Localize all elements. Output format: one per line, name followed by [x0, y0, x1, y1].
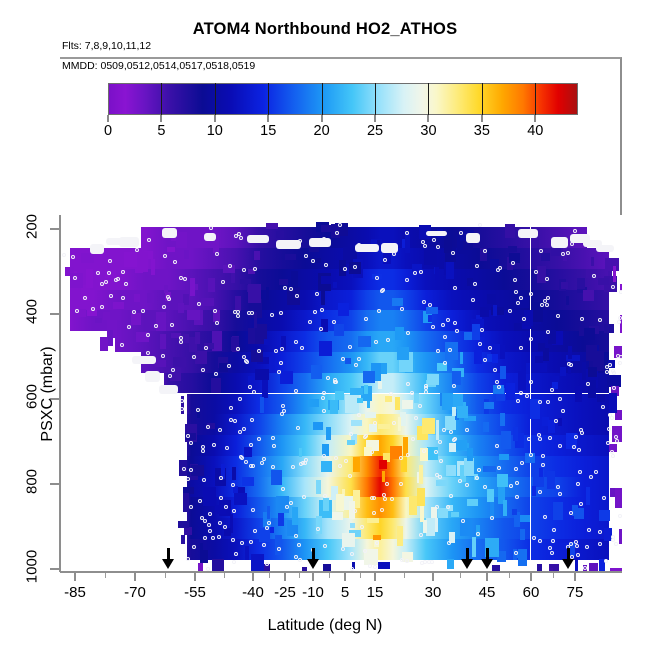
- measurement-marker: [569, 511, 573, 515]
- measurement-marker: [419, 270, 423, 274]
- x-axis-minor-tick: [360, 573, 361, 578]
- heatmap-cell: [282, 310, 305, 331]
- measurement-marker: [480, 328, 484, 332]
- measurement-marker: [250, 418, 254, 422]
- measurement-marker: [221, 280, 225, 284]
- heatmap-cell: [417, 488, 425, 506]
- heatmap-cell: [138, 252, 148, 272]
- measurement-marker: [294, 534, 298, 538]
- heatmap-cell: [191, 394, 214, 415]
- heatmap-cell: [398, 417, 402, 432]
- heatmap-cell: [351, 290, 367, 311]
- measurement-marker: [271, 465, 275, 469]
- heatmap-cell: [619, 529, 622, 544]
- heatmap-cell: [173, 357, 186, 366]
- measurement-marker: [545, 303, 549, 307]
- heatmap-cell: [240, 279, 251, 284]
- heatmap-cell: [167, 247, 175, 252]
- flights-annotation: Flts: 7,8,9,10,11,12: [62, 40, 151, 52]
- measurement-marker: [514, 551, 518, 555]
- measurement-marker: [410, 391, 414, 395]
- measurement-marker: [303, 461, 307, 465]
- heatmap-cell: [504, 331, 530, 352]
- y-axis-tick-label: 800: [24, 464, 41, 500]
- measurement-marker: [364, 317, 368, 321]
- heatmap-cell: [586, 345, 598, 360]
- measurement-marker: [598, 318, 602, 322]
- heatmap-cell: [588, 367, 597, 377]
- measurement-marker: [322, 409, 326, 413]
- heatmap-cell: [276, 231, 284, 238]
- heatmap-cell: [547, 471, 555, 490]
- heatmap-cell: [520, 529, 525, 541]
- heatmap-cell: [575, 386, 581, 402]
- heatmap-cell: [321, 276, 330, 284]
- heatmap-cell: [428, 315, 432, 322]
- colorbar-divider: [482, 83, 483, 115]
- measurement-marker: [219, 476, 223, 480]
- heatmap-cell: [373, 535, 381, 541]
- heatmap-cell: [420, 505, 425, 522]
- measurement-marker: [124, 282, 128, 286]
- heatmap-cell: [319, 341, 332, 356]
- measurement-marker: [120, 343, 124, 347]
- measurement-marker: [109, 294, 113, 298]
- heatmap-cell: [586, 269, 590, 278]
- heatmap-cell: [212, 559, 224, 572]
- measurement-marker: [304, 254, 308, 258]
- colorbar-tick-label: 10: [207, 123, 223, 139]
- measurement-marker: [509, 484, 513, 488]
- heatmap-cell: [501, 431, 512, 449]
- measurement-marker: [240, 456, 244, 460]
- measurement-marker: [354, 363, 358, 367]
- heatmap-cell: [321, 225, 332, 232]
- heatmap-cell: [183, 334, 188, 343]
- measurement-marker: [341, 357, 345, 361]
- measurement-marker: [271, 436, 275, 440]
- heatmap-cell: [568, 346, 572, 358]
- heatmap-cell: [201, 298, 214, 306]
- colorbar-gradient: [108, 83, 578, 115]
- heatmap-cell: [178, 303, 184, 313]
- measurement-marker: [405, 278, 409, 282]
- heatmap-cell: [447, 559, 454, 570]
- heatmap-cell: [452, 407, 457, 416]
- heatmap-cell: [584, 328, 595, 340]
- heatmap-cell: [583, 414, 609, 435]
- measurement-marker: [476, 532, 480, 536]
- measurement-marker: [594, 470, 598, 474]
- measurement-marker: [294, 555, 298, 559]
- heatmap-cell: [214, 414, 237, 435]
- measurement-marker: [338, 223, 342, 227]
- heatmap-cell: [358, 336, 371, 347]
- heatmap-cell: [367, 518, 379, 524]
- measurement-marker: [538, 437, 542, 441]
- measurement-marker: [616, 354, 620, 358]
- measurement-marker: [294, 340, 298, 344]
- heatmap-cell: [259, 290, 282, 311]
- measurement-marker: [334, 456, 338, 460]
- heatmap-cell: [380, 310, 393, 331]
- measurement-marker: [215, 252, 219, 256]
- heatmap-cell: [367, 310, 380, 331]
- data-gap-patch: [466, 233, 481, 242]
- heatmap-cell: [164, 285, 168, 293]
- measurement-marker: [294, 389, 298, 393]
- measurement-marker: [601, 405, 605, 409]
- heatmap-cell: [299, 448, 303, 457]
- x-axis-minor-tick: [105, 573, 106, 578]
- heatmap-cell: [350, 523, 356, 528]
- x-axis-tick: [486, 573, 488, 581]
- measurement-marker: [611, 369, 615, 373]
- heatmap-cell: [270, 527, 274, 533]
- measurement-marker: [319, 327, 323, 331]
- x-axis-tick-label: 75: [567, 584, 584, 601]
- data-gap-patch: [162, 228, 177, 237]
- measurement-marker: [617, 320, 621, 324]
- x-axis-tick: [194, 573, 196, 581]
- heatmap-cell: [336, 494, 344, 511]
- measurement-marker: [244, 460, 248, 464]
- colorbar-tick: [321, 115, 323, 122]
- measurement-marker: [607, 427, 611, 431]
- heatmap-cell: [402, 400, 413, 409]
- x-axis-tick-label: 60: [523, 584, 540, 601]
- heatmap-cell: [351, 420, 361, 426]
- heatmap-cell: [342, 533, 355, 547]
- measurement-marker: [62, 253, 66, 257]
- heatmap-cell: [599, 510, 610, 521]
- measurement-marker: [406, 453, 410, 457]
- x-axis-tick: [312, 573, 314, 581]
- heatmap-cell: [326, 427, 332, 440]
- colorbar-tick: [481, 115, 483, 122]
- colorbar-tick-label: 40: [527, 123, 543, 139]
- measurement-marker: [548, 436, 552, 440]
- measurement-marker: [483, 358, 487, 362]
- heatmap-cell: [393, 497, 406, 518]
- heatmap-cell: [248, 284, 261, 302]
- measurement-marker: [91, 307, 95, 311]
- measurement-marker: [353, 265, 357, 269]
- measurement-marker: [435, 505, 439, 509]
- heatmap-cell: [124, 252, 137, 267]
- y-axis-tick-label: 200: [24, 209, 41, 245]
- heatmap-cell: [267, 506, 270, 519]
- heatmap-cell: [147, 293, 154, 303]
- data-gap-patch: [309, 238, 331, 246]
- heatmap-cell: [255, 369, 268, 380]
- measurement-marker: [580, 317, 584, 321]
- x-axis-tick-label: -40: [242, 584, 264, 601]
- measurement-marker: [289, 501, 293, 505]
- measurement-marker: [455, 329, 459, 333]
- heatmap-cell: [214, 539, 237, 560]
- heatmap-cell: [520, 515, 530, 523]
- x-axis-minor-tick: [404, 573, 405, 578]
- heatmap-cell: [566, 296, 569, 305]
- colorbar-divider: [375, 83, 376, 115]
- measurement-marker: [289, 287, 293, 291]
- measurement-marker: [213, 309, 217, 313]
- measurement-marker: [201, 445, 205, 449]
- y-axis-tick-label: 400: [24, 294, 41, 330]
- x-axis-tick: [134, 573, 136, 581]
- heatmap-cell: [264, 339, 269, 345]
- measurement-marker: [232, 560, 236, 564]
- measurement-marker: [574, 540, 578, 544]
- latitude-arrow-marker: [307, 548, 319, 570]
- measurement-marker: [573, 229, 577, 233]
- heatmap-cell: [414, 393, 419, 403]
- measurement-marker: [516, 399, 520, 403]
- heatmap-cell: [604, 324, 614, 334]
- heatmap-cell: [113, 302, 124, 309]
- x-axis-tick-label: -25: [274, 584, 296, 601]
- heatmap-cell: [575, 558, 579, 572]
- heatmap-cell: [232, 467, 236, 480]
- measurement-marker: [443, 335, 447, 339]
- measurement-marker: [577, 448, 581, 452]
- heatmap-cell: [292, 507, 298, 526]
- heatmap-cell: [254, 251, 260, 260]
- heatmap-cell: [397, 347, 409, 360]
- heatmap-cell: [134, 294, 141, 302]
- heatmap-cell: [493, 305, 497, 317]
- heatmap-cell: [438, 508, 448, 518]
- measurement-marker: [242, 268, 246, 272]
- measurement-marker: [390, 497, 394, 501]
- measurement-marker: [441, 323, 445, 327]
- x-axis-tick: [374, 573, 376, 581]
- colorbar-tick-label: 25: [367, 123, 383, 139]
- measurement-marker: [281, 487, 285, 491]
- heatmap-cell: [214, 290, 237, 311]
- measurement-marker: [280, 412, 284, 416]
- measurement-marker: [350, 552, 354, 556]
- heatmap-cell: [393, 373, 406, 394]
- latitude-arrow-marker: [481, 548, 493, 570]
- heatmap-cell: [269, 357, 273, 372]
- heatmap-cell: [435, 518, 438, 532]
- measurement-marker: [281, 404, 285, 408]
- measurement-marker: [556, 485, 560, 489]
- data-gap-patch: [145, 371, 159, 382]
- measurement-marker: [558, 492, 562, 496]
- heatmap-cell: [321, 461, 332, 472]
- colorbar-divider: [322, 83, 323, 115]
- measurement-marker: [154, 324, 158, 328]
- heatmap-cell: [537, 363, 547, 371]
- colorbar-tick-label: 0: [104, 123, 112, 139]
- measurement-marker: [257, 437, 261, 441]
- heatmap-cell: [233, 486, 238, 494]
- heatmap-cell: [313, 422, 323, 430]
- measurement-marker: [598, 542, 602, 546]
- x-axis-minor-tick: [224, 573, 225, 578]
- measurement-marker: [414, 416, 418, 420]
- measurement-marker: [432, 238, 436, 242]
- x-axis-tick: [344, 573, 346, 581]
- data-gap-patch: [276, 240, 301, 249]
- heatmap-cell: [445, 416, 456, 430]
- measurement-marker: [170, 323, 174, 327]
- measurement-marker: [539, 249, 543, 253]
- measurement-marker: [587, 528, 591, 532]
- measurement-marker: [132, 310, 136, 314]
- measurement-marker: [399, 456, 403, 460]
- heatmap-cell: [234, 493, 246, 505]
- measurement-marker: [211, 536, 215, 540]
- heatmap-cell: [266, 223, 279, 229]
- heatmap-cell: [419, 465, 423, 483]
- heatmap-cell: [242, 477, 254, 486]
- heatmap-cell: [379, 460, 387, 469]
- heatmap-cell: [365, 412, 376, 418]
- heatmap-cell: [474, 350, 482, 364]
- heatmap-cell: [103, 312, 110, 320]
- measurement-marker: [326, 376, 330, 380]
- heatmap-cell: [483, 466, 495, 472]
- measurement-marker: [427, 560, 431, 564]
- heatmap-cell: [323, 498, 330, 511]
- measurement-marker: [370, 450, 374, 454]
- heatmap-cell: [395, 397, 400, 409]
- x-axis-tick: [252, 573, 254, 581]
- heatmap-cell: [187, 310, 200, 320]
- heatmap-cell: [426, 518, 435, 537]
- heatmap-cell: [537, 266, 546, 283]
- heatmap-cell: [321, 286, 325, 304]
- measurement-marker: [529, 453, 533, 457]
- heatmap-cell: [392, 298, 403, 306]
- heatmap-cell: [492, 354, 498, 363]
- measurement-marker: [576, 553, 580, 557]
- measurement-marker: [308, 320, 312, 324]
- measurement-marker: [614, 542, 618, 546]
- measurement-marker: [572, 445, 576, 449]
- measurement-marker: [511, 261, 515, 265]
- measurement-marker: [619, 290, 622, 294]
- measurement-marker: [443, 361, 447, 365]
- measurement-marker: [320, 308, 324, 312]
- measurement-marker: [234, 234, 238, 238]
- x-axis-label: Latitude (deg N): [0, 617, 650, 635]
- heatmap-cell: [308, 399, 319, 407]
- measurement-marker: [373, 565, 377, 569]
- heatmap-cell: [409, 496, 417, 515]
- heatmap-cell: [586, 487, 590, 505]
- measurement-marker: [405, 559, 409, 563]
- x-axis-tick-label: 45: [479, 584, 496, 601]
- heatmap-cell: [191, 465, 204, 476]
- measurement-marker: [350, 567, 354, 571]
- measurement-marker: [247, 311, 251, 315]
- measurement-marker: [375, 276, 379, 280]
- heatmap-cell: [591, 257, 595, 266]
- measurement-marker: [229, 406, 233, 410]
- measurement-marker: [363, 549, 367, 553]
- measurement-marker: [550, 551, 554, 555]
- heatmap-cell: [231, 273, 234, 284]
- heatmap-cell: [364, 385, 368, 394]
- heatmap-cell: [405, 233, 410, 253]
- measurement-marker: [265, 526, 269, 530]
- heatmap-cell: [332, 512, 343, 519]
- x-axis-tick: [432, 573, 434, 581]
- heatmap-cell: [397, 526, 403, 546]
- measurement-marker: [428, 303, 432, 307]
- measurement-marker: [458, 479, 462, 483]
- measurement-marker: [209, 226, 213, 230]
- measurement-marker: [579, 428, 583, 432]
- measurement-marker: [604, 559, 608, 563]
- measurement-marker: [146, 351, 150, 355]
- measurement-marker: [250, 311, 254, 315]
- colorbar-tick: [160, 115, 162, 122]
- heatmap-cell: [505, 224, 516, 238]
- heatmap-cell: [512, 509, 518, 515]
- colorbar-divider: [268, 83, 269, 115]
- heatmap-cell: [560, 367, 566, 376]
- heatmap-cell: [539, 468, 543, 478]
- y-axis-tick-label: 1000: [24, 549, 41, 585]
- heatmap-cell: [598, 278, 609, 285]
- measurement-marker: [302, 495, 306, 499]
- measurement-marker: [233, 419, 237, 423]
- heatmap-cell: [184, 250, 189, 259]
- heatmap-cell: [454, 440, 468, 449]
- heatmap-cell: [500, 366, 507, 379]
- heatmap-cell: [385, 396, 392, 402]
- measurement-marker: [532, 536, 536, 540]
- heatmap-cell: [200, 550, 208, 563]
- measurement-marker: [420, 561, 424, 565]
- heatmap-cell: [436, 480, 446, 486]
- colorbar-tick-label: 30: [420, 123, 436, 139]
- measurement-marker: [349, 432, 353, 436]
- measurement-marker: [108, 259, 112, 263]
- heatmap-cell: [285, 254, 296, 259]
- measurement-marker: [270, 313, 274, 317]
- measurement-marker: [514, 290, 518, 294]
- heatmap-cell: [480, 307, 489, 317]
- measurement-marker: [438, 440, 442, 444]
- measurement-marker: [179, 336, 183, 340]
- measurement-marker: [473, 282, 477, 286]
- measurement-marker: [442, 428, 446, 432]
- heatmap-cell: [426, 307, 438, 314]
- heatmap-cell: [583, 435, 609, 456]
- latitude-arrow-marker: [461, 548, 473, 570]
- heatmap-cell: [195, 351, 207, 364]
- heatmap-canvas: [60, 215, 622, 572]
- heatmap-cell: [208, 278, 214, 293]
- heatmap-cell: [279, 279, 288, 285]
- data-gap-patch: [159, 385, 178, 394]
- measurement-marker: [610, 450, 614, 454]
- x-axis-minor-tick: [299, 573, 300, 578]
- data-gap-patch: [426, 231, 447, 237]
- heatmap-cell: [380, 269, 393, 290]
- measurement-marker: [368, 564, 372, 568]
- measurement-marker: [538, 539, 542, 543]
- data-gap-patch: [381, 243, 399, 254]
- measurement-marker: [534, 270, 538, 274]
